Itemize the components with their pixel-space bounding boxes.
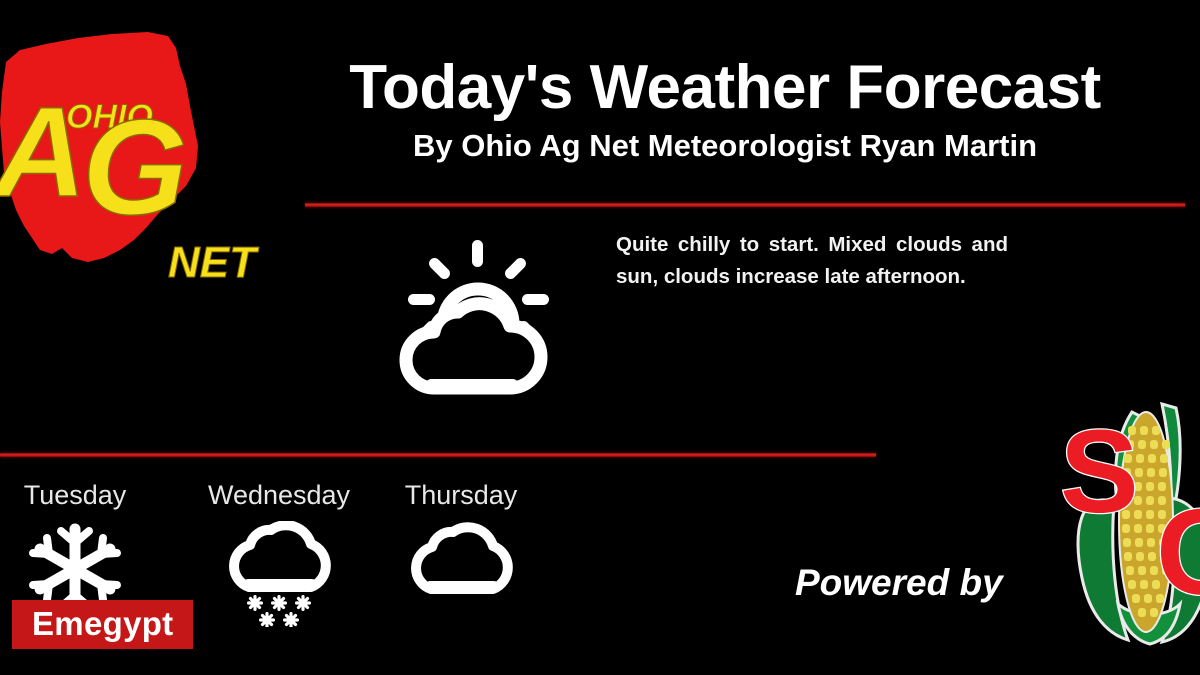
watermark-badge: Emegypt <box>12 600 193 649</box>
seed-consultants-corn-logo: S C <box>1058 382 1200 652</box>
divider-middle <box>0 453 876 457</box>
sun-behind-cloud-icon <box>398 238 554 398</box>
weather-forecast-graphic: OHIO A G NET Today's Weather Forecast By… <box>0 0 1200 675</box>
logo-text-a: A <box>0 81 86 224</box>
cloud-with-snow-icon <box>223 521 335 627</box>
ohio-ag-net-logo: OHIO A G NET <box>0 22 280 284</box>
cloud-icon <box>405 521 517 601</box>
forecast-day-tuesday: Tuesday <box>2 482 148 617</box>
forecast-day-wednesday: Wednesday <box>190 482 368 627</box>
sponsor-letter-c: C <box>1156 484 1200 620</box>
forecast-day-label: Tuesday <box>2 482 148 509</box>
logo-text-net: NET <box>168 238 259 284</box>
page-title: Today's Weather Forecast <box>260 56 1190 119</box>
today-description: Quite chilly to start. Mixed clouds and … <box>616 229 1008 294</box>
forecast-day-label: Thursday <box>388 482 534 509</box>
header-title-block: Today's Weather Forecast By Ohio Ag Net … <box>260 56 1190 163</box>
powered-by-label: Powered by <box>795 562 1003 604</box>
forecast-day-label: Wednesday <box>190 482 368 509</box>
divider-top <box>305 203 1185 207</box>
forecast-day-thursday: Thursday <box>388 482 534 601</box>
watermark-text: Emegypt <box>32 607 173 640</box>
sponsor-letter-s: S <box>1060 406 1139 538</box>
logo-text-g: G <box>82 91 188 243</box>
page-subtitle: By Ohio Ag Net Meteorologist Ryan Martin <box>260 129 1190 163</box>
